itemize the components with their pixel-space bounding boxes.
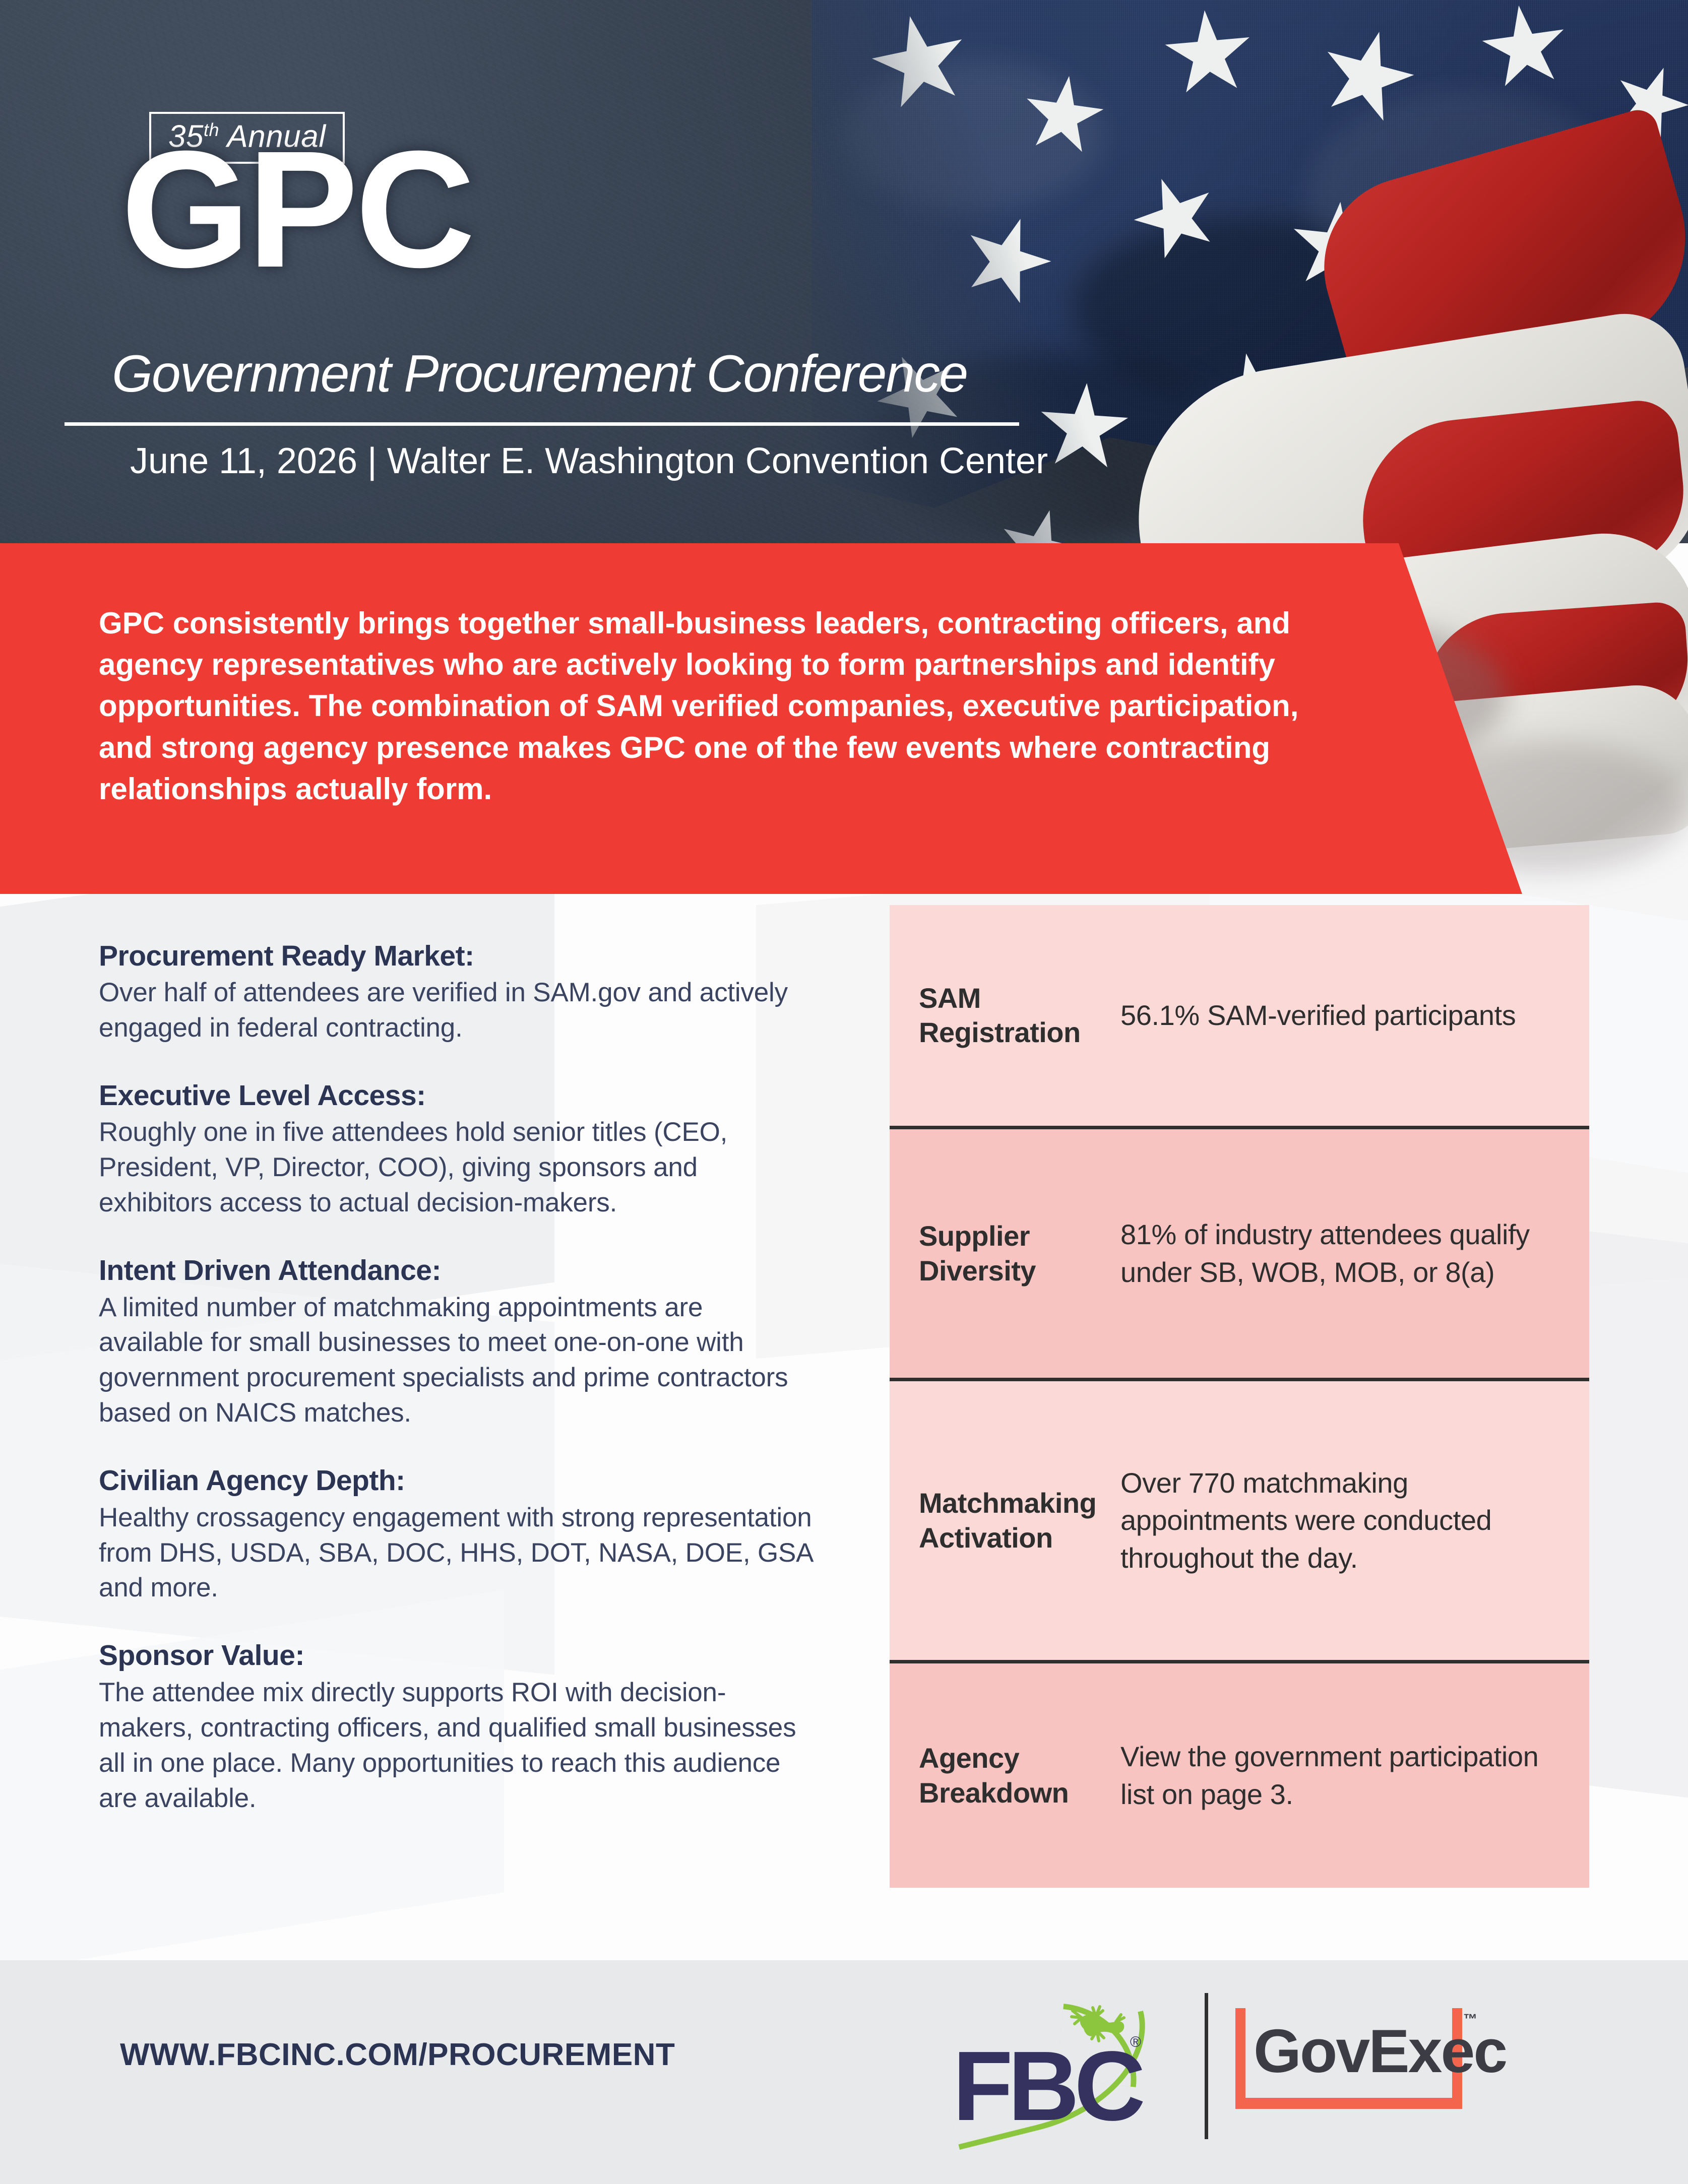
highlight-heading: Civilian Agency Depth: <box>99 1464 815 1498</box>
logo-divider <box>1205 1993 1208 2139</box>
fbc-logo[interactable]: FBC ® <box>953 1990 1190 2142</box>
hero-divider-rule <box>65 422 1019 426</box>
table-row: SAMRegistration 56.1% SAM-verified parti… <box>890 905 1589 1129</box>
table-row: SupplierDiversity 81% of industry attend… <box>890 1129 1589 1381</box>
fbc-wordmark: FBC <box>953 2037 1141 2136</box>
date-venue-line: June 11, 2026 | Walter E. Washington Con… <box>130 439 1048 483</box>
highlight-item: Civilian Agency Depth: Healthy crossagen… <box>99 1464 815 1605</box>
highlight-item: Executive Level Access: Roughly one in f… <box>99 1079 815 1221</box>
table-row: AgencyBreakdown View the government part… <box>890 1663 1589 1888</box>
stat-value: 56.1% SAM-verified participants <box>1120 997 1561 1034</box>
highlights-column: Procurement Ready Market: Over half of a… <box>99 939 815 1816</box>
stat-label: SupplierDiversity <box>919 1219 1120 1288</box>
highlight-body: Over half of attendees are verified in S… <box>99 975 815 1046</box>
table-row: MatchmakingActivation Over 770 matchmaki… <box>890 1381 1589 1663</box>
stat-value: 81% of industry attendees qualify under … <box>1120 1216 1561 1291</box>
stat-label: SAMRegistration <box>919 981 1120 1050</box>
highlight-body: A limited number of matchmaking appointm… <box>99 1290 815 1431</box>
highlight-item: Procurement Ready Market: Over half of a… <box>99 939 815 1046</box>
highlight-heading: Intent Driven Attendance: <box>99 1254 815 1288</box>
gpc-acronym: GPC <box>121 126 472 292</box>
highlight-item: Intent Driven Attendance: A limited numb… <box>99 1254 815 1431</box>
highlight-heading: Executive Level Access: <box>99 1079 815 1113</box>
footer-logos: FBC ® GovExec ™ <box>953 1980 1472 2152</box>
conference-name: Government Procurement Conference <box>112 348 967 400</box>
stat-value: View the government participation list o… <box>1120 1738 1561 1813</box>
stat-label: AgencyBreakdown <box>919 1741 1120 1810</box>
footer-url[interactable]: WWW.FBCINC.COM/PROCUREMENT <box>120 2037 675 2073</box>
highlight-body: The attendee mix directly supports ROI w… <box>99 1675 815 1816</box>
highlight-body: Healthy crossagency engagement with stro… <box>99 1500 815 1606</box>
highlight-heading: Procurement Ready Market: <box>99 939 815 973</box>
highlight-body: Roughly one in five attendees hold senio… <box>99 1115 815 1221</box>
highlight-item: Sponsor Value: The attendee mix directly… <box>99 1639 815 1816</box>
stats-table: SAMRegistration 56.1% SAM-verified parti… <box>890 905 1589 1888</box>
govexec-logo[interactable]: GovExec ™ <box>1235 2008 1472 2124</box>
registered-mark-icon: ® <box>1130 2034 1141 2051</box>
hero-text-block: 35th Annual GPC Government Procurement C… <box>0 0 1058 543</box>
stat-value: Over 770 matchmaking appointments were c… <box>1120 1464 1561 1577</box>
banner-paragraph: GPC consistently brings together small-b… <box>99 603 1329 810</box>
trademark-mark-icon: ™ <box>1463 2011 1477 2027</box>
stat-label: MatchmakingActivation <box>919 1486 1120 1555</box>
highlight-heading: Sponsor Value: <box>99 1639 815 1673</box>
main-content: Procurement Ready Market: Over half of a… <box>0 894 1688 1960</box>
govexec-wordmark: GovExec <box>1254 2020 1506 2082</box>
